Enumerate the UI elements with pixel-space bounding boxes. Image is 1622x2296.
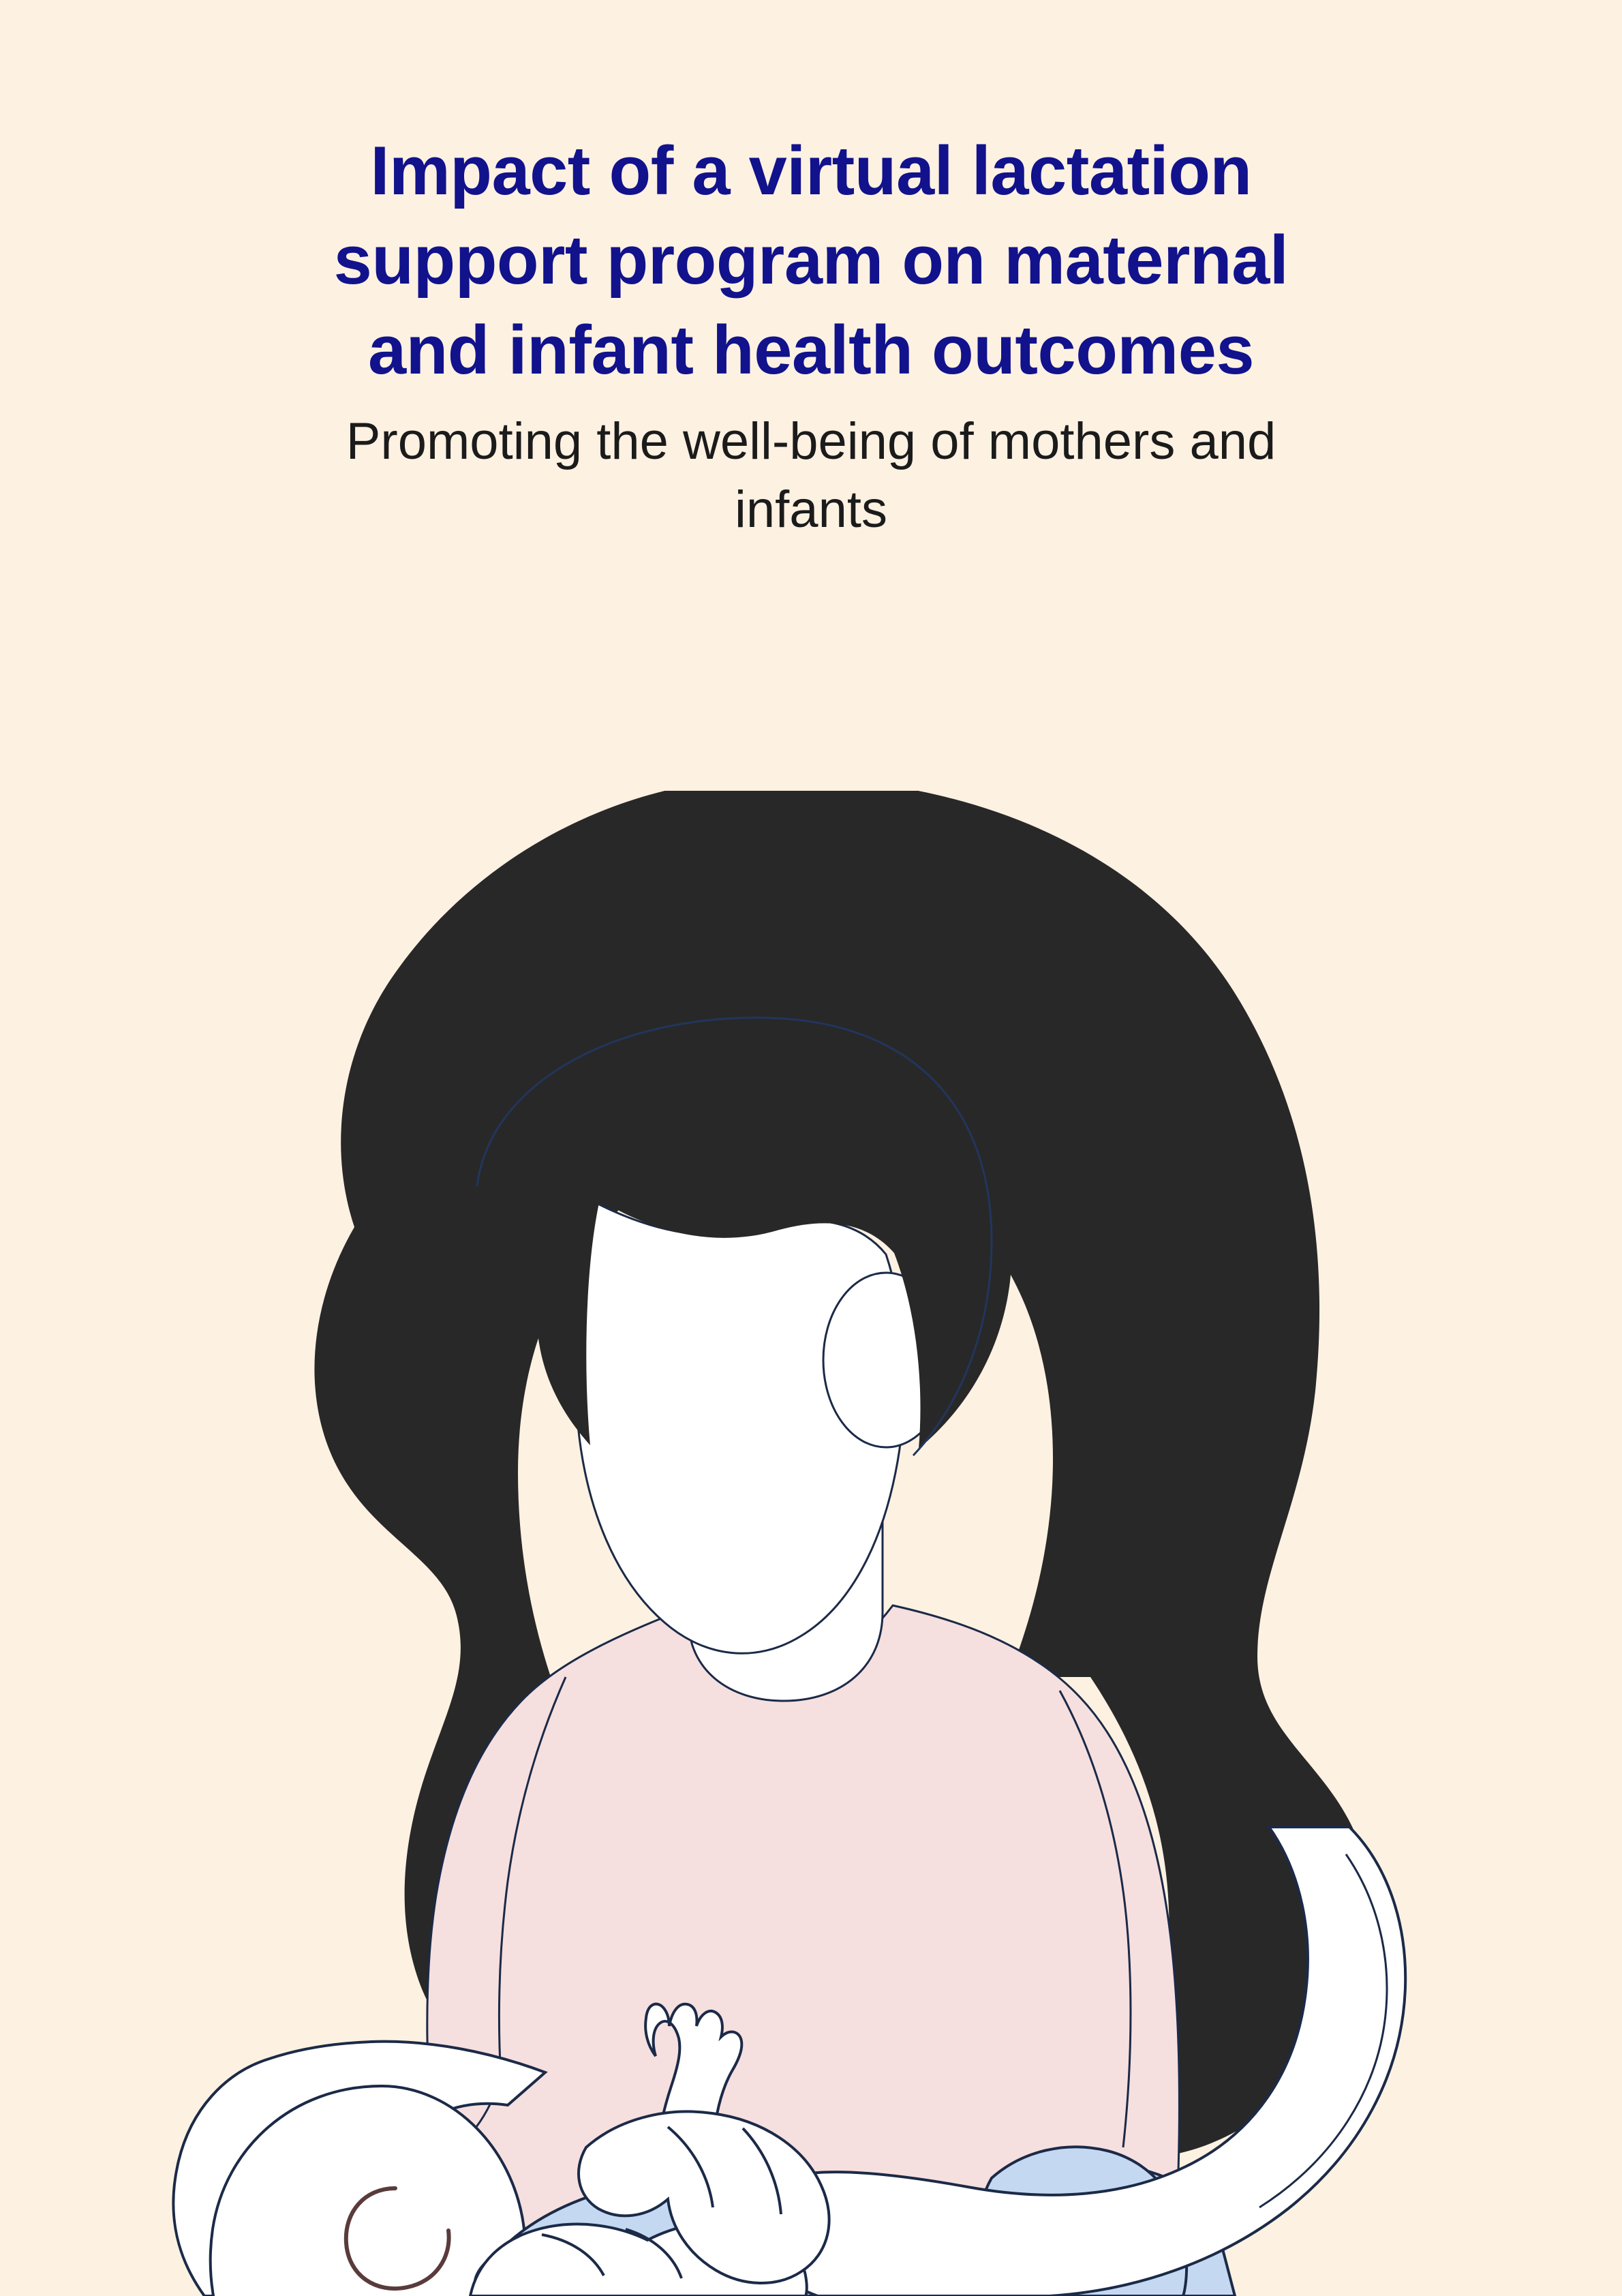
title-line-1: Impact of a virtual lactation [370,133,1251,209]
illustration-svg [0,791,1622,2296]
poster-header: Impact of a virtual lactation support pr… [0,0,1622,545]
poster-canvas: Impact of a virtual lactation support pr… [0,0,1622,2296]
face-group [575,1200,949,1653]
mother-and-baby-illustration [0,791,1622,2296]
title-line-3: and infant health outcomes [368,312,1254,389]
page-subtitle: Promoting the well-being of mothers and … [129,408,1493,545]
subtitle-line-2: infants [735,481,887,539]
subtitle-line-1: Promoting the well-being of mothers and [346,412,1276,470]
page-title: Impact of a virtual lactation support pr… [198,127,1424,395]
title-line-2: support program on maternal [334,222,1289,299]
